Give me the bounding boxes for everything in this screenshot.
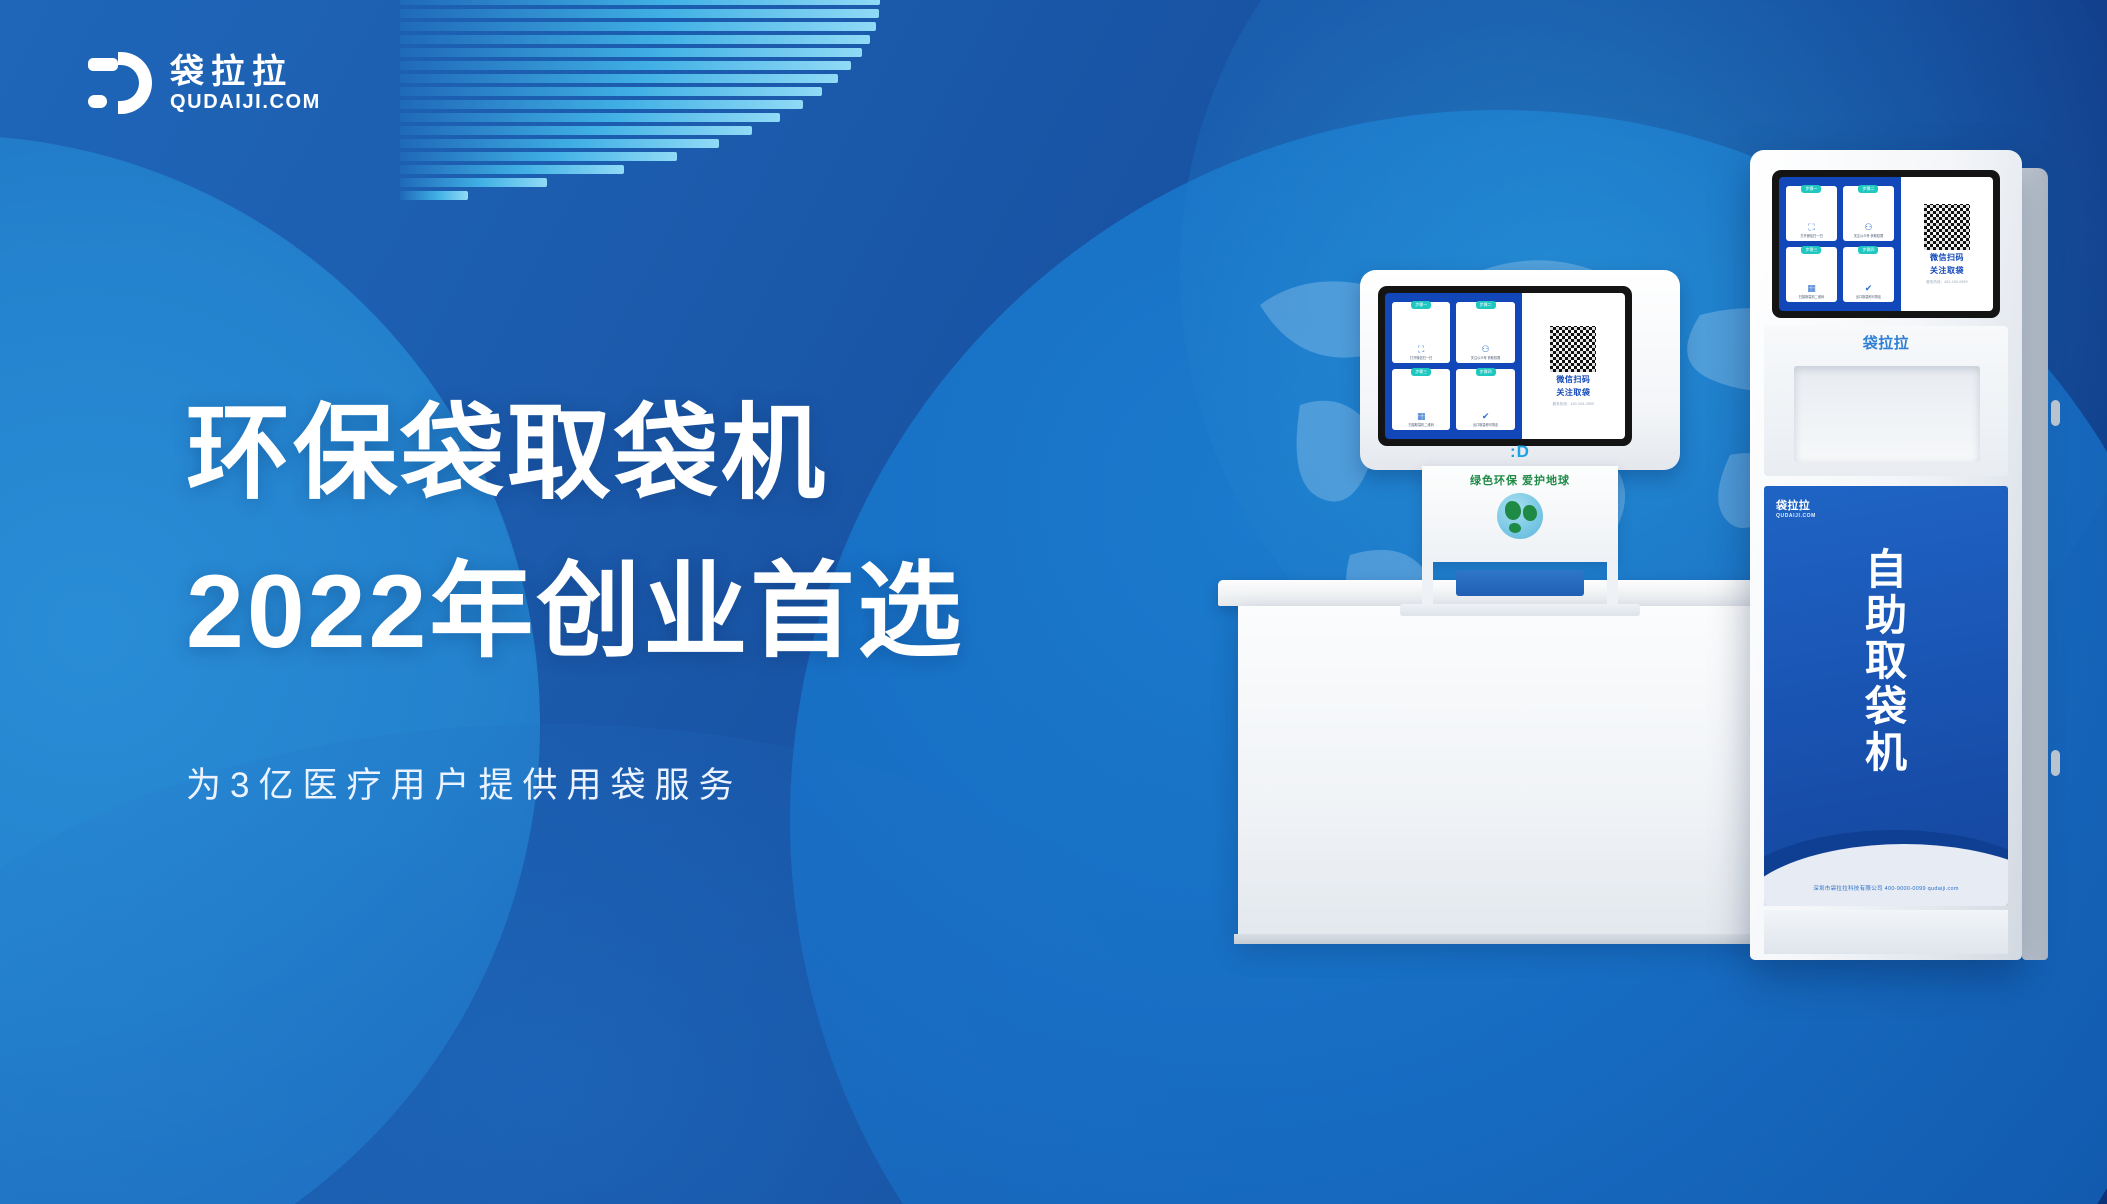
- countertop-bag-slot: [1456, 570, 1584, 596]
- brand-logo[interactable]: 袋拉拉 QUDAIJI.COM: [88, 52, 321, 114]
- kiosk-vertical-char: 取: [1865, 639, 1907, 683]
- step-text: 关注公众号 获取权限: [1469, 356, 1503, 360]
- kiosk-handle-upper-icon: [2051, 400, 2060, 426]
- kiosk-steps-panel: 步骤一⛶打开微信扫一扫步骤二⚇关注公众号 获取权限步骤三▦扫描取袋机二维码步骤四…: [1779, 177, 1901, 311]
- step-text: 打开微信扫一扫: [1798, 234, 1824, 238]
- hero-copy: 环保袋取袋机 2022年创业首选 为3亿医疗用户提供用袋服务: [186, 375, 964, 808]
- check-circle-icon: ✔: [1865, 283, 1873, 294]
- step-tag: 步骤一: [1801, 185, 1821, 193]
- step-text: 关注公众号 获取权限: [1852, 234, 1886, 238]
- step-card[interactable]: 步骤三▦扫描取袋机二维码: [1392, 369, 1450, 430]
- step-card[interactable]: 步骤一⛶打开微信扫一扫: [1392, 302, 1450, 363]
- kiosk-qr-hotline: 服务热线：400-006-0899: [1926, 279, 1967, 284]
- qr-label-line-1: 微信扫码: [1556, 375, 1590, 385]
- qr-code-icon: ▦: [1807, 283, 1816, 294]
- counter-body: [1238, 606, 1758, 941]
- step-tag: 步骤二: [1476, 301, 1496, 309]
- kiosk-panel-logo: 袋拉拉QUDAIJI.COM: [1776, 497, 1816, 519]
- kiosk-panel-footer: 深圳市袋拉拉科技有限公司 400-9000-0099 qudaiji.com: [1764, 884, 2008, 892]
- striped-dome-decor: [400, 0, 880, 210]
- product-scene: 步骤一⛶打开微信扫一扫步骤二⚇关注公众号 获取权限步骤三▦扫描取袋机二维码步骤四…: [1190, 150, 2060, 980]
- kiosk-vertical-char: 机: [1865, 731, 1907, 775]
- step-tag: 步骤三: [1411, 368, 1431, 376]
- kiosk-body: 步骤一⛶打开微信扫一扫步骤二⚇关注公众号 获取权限步骤三▦扫描取袋机二维码步骤四…: [1750, 150, 2022, 960]
- hero-tagline: 为3亿医疗用户提供用袋服务: [186, 757, 964, 808]
- check-circle-icon: ✔: [1482, 411, 1490, 422]
- brand-domain: QUDAIJI.COM: [170, 92, 321, 112]
- step-card[interactable]: 步骤四✔出口取袋即可带走: [1843, 247, 1894, 302]
- kiosk-vertical-title: 自助取袋机: [1764, 548, 2008, 774]
- colon-d-mark-icon: [88, 52, 152, 114]
- step-text: 扫描取袋机二维码: [1797, 295, 1827, 299]
- countertop-screen[interactable]: 步骤一⛶打开微信扫一扫步骤二⚇关注公众号 获取权限步骤三▦扫描取袋机二维码步骤四…: [1378, 286, 1632, 446]
- step-tag: 步骤四: [1476, 368, 1496, 376]
- qr-code-icon: [1550, 326, 1596, 372]
- countertop-bezel-logo: :D: [1360, 442, 1680, 462]
- share-node-icon: ⚇: [1864, 222, 1872, 233]
- floor-standing-bag-kiosk: 步骤一⛶打开微信扫一扫步骤二⚇关注公众号 获取权限步骤三▦扫描取袋机二维码步骤四…: [1750, 150, 2050, 980]
- step-text: 扫描取袋机二维码: [1406, 423, 1436, 427]
- marketing-banner: 袋拉拉 QUDAIJI.COM 环保袋取袋机 2022年创业首选 为3亿医疗用户…: [0, 0, 2107, 1204]
- kiosk-vertical-char: 助: [1865, 594, 1907, 638]
- kiosk-side-panel: [2022, 168, 2048, 960]
- countertop-bag-dispenser: 步骤一⛶打开微信扫一扫步骤二⚇关注公众号 获取权限步骤三▦扫描取袋机二维码步骤四…: [1360, 270, 1680, 600]
- green-globe-icon: [1497, 493, 1543, 539]
- step-tag: 步骤二: [1858, 185, 1878, 193]
- kiosk-vertical-char: 自: [1865, 548, 1907, 592]
- countertop-qr-panel: 微信扫码 关注取袋 服务热线：400-006-0899: [1522, 293, 1625, 439]
- kiosk-qr-panel: 微信扫码 关注取袋 服务热线：400-006-0899: [1901, 177, 1993, 311]
- scan-frame-icon: ⛶: [1808, 222, 1814, 233]
- step-tag: 步骤四: [1858, 246, 1878, 254]
- step-card[interactable]: 步骤二⚇关注公众号 获取权限: [1456, 302, 1514, 363]
- brand-name-cn: 袋拉拉: [170, 55, 321, 89]
- qr-code-icon: [1924, 204, 1970, 250]
- counter-base: [1234, 934, 1764, 944]
- countertop-base: [1400, 604, 1640, 616]
- eco-label: 绿色环保 爱护地球: [1422, 466, 1618, 562]
- step-text: 出口取袋即可带走: [1471, 423, 1501, 427]
- kiosk-vertical-char: 袋: [1865, 685, 1907, 729]
- kiosk-screen[interactable]: 步骤一⛶打开微信扫一扫步骤二⚇关注公众号 获取权限步骤三▦扫描取袋机二维码步骤四…: [1772, 170, 2000, 318]
- countertop-head: 步骤一⛶打开微信扫一扫步骤二⚇关注公众号 获取权限步骤三▦扫描取袋机二维码步骤四…: [1360, 270, 1680, 470]
- step-tag: 步骤三: [1801, 246, 1821, 254]
- kiosk-qr-label-line-2: 关注取袋: [1930, 266, 1964, 276]
- step-tag: 步骤一: [1411, 301, 1431, 309]
- headline-line-2: 2022年创业首选: [186, 533, 964, 691]
- step-card[interactable]: 步骤三▦扫描取袋机二维码: [1786, 247, 1837, 302]
- share-node-icon: ⚇: [1482, 344, 1490, 355]
- step-text: 打开微信扫一扫: [1408, 356, 1434, 360]
- step-card[interactable]: 步骤一⛶打开微信扫一扫: [1786, 186, 1837, 241]
- kiosk-qr-label-line-1: 微信扫码: [1930, 253, 1964, 263]
- kiosk-bag-outlet: [1794, 366, 1980, 462]
- qr-hotline: 服务热线：400-006-0899: [1553, 401, 1594, 406]
- headline-line-1: 环保袋取袋机: [186, 375, 964, 533]
- step-text: 出口取袋即可带走: [1854, 295, 1884, 299]
- scan-frame-icon: ⛶: [1418, 344, 1424, 355]
- step-card[interactable]: 步骤二⚇关注公众号 获取权限: [1843, 186, 1894, 241]
- step-card[interactable]: 步骤四✔出口取袋即可带走: [1456, 369, 1514, 430]
- kiosk-handle-lower-icon: [2051, 750, 2060, 776]
- kiosk-panel-logo-domain: QUDAIJI.COM: [1776, 513, 1816, 519]
- qr-code-icon: ▦: [1417, 411, 1426, 422]
- kiosk-branding-panel: 袋拉拉QUDAIJI.COM 自助取袋机 深圳市袋拉拉科技有限公司 400-90…: [1764, 486, 2008, 906]
- qr-label-line-2: 关注取袋: [1556, 388, 1590, 398]
- kiosk-mid-logo: 袋拉拉: [1750, 332, 2022, 353]
- eco-label-text: 绿色环保 爱护地球: [1470, 472, 1570, 488]
- countertop-steps-panel: 步骤一⛶打开微信扫一扫步骤二⚇关注公众号 获取权限步骤三▦扫描取袋机二维码步骤四…: [1385, 293, 1522, 439]
- kiosk-bottom-plinth: [1764, 910, 2008, 954]
